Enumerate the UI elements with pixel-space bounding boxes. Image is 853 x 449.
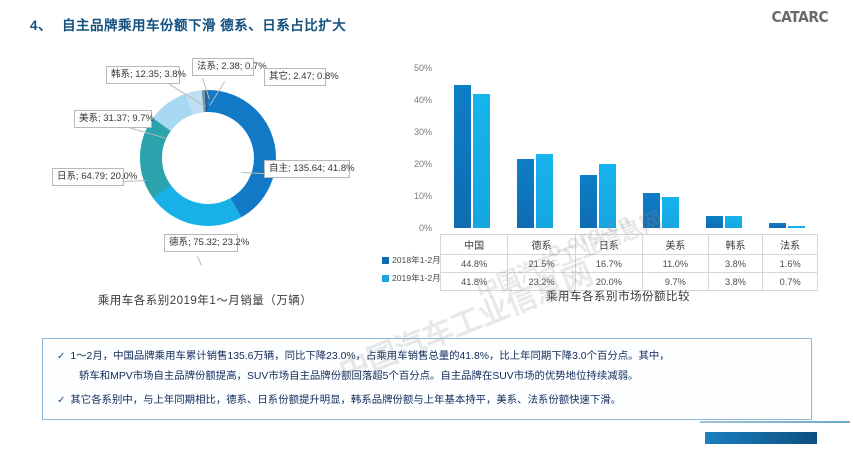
note-line-1-text: 1～2月，中国品牌乘用车累计销售135.6万辆，同比下降23.0%，占乘用车销售… [70,351,669,362]
slide-root: 4、 自主品牌乘用车份额下滑 德系、日系占比扩大 CATARC [0,0,853,449]
legend-label-2018: 2018年1-2月 [392,254,441,266]
note-line-3: ✓其它各系别中，与上年同期相比，德系、日系份额提升明显，韩系品牌份额与上年基本持… [57,393,621,408]
summary-note-box: ✓1～2月，中国品牌乘用车累计销售135.6万辆，同比下降23.0%，占乘用车销… [42,338,812,420]
bar-chart: 50% 40% 30% 20% 10% 0% [398,48,838,318]
y-tick-20: 20% [414,159,432,169]
table-row: 44.8% 21.5% 16.7% 11.0% 3.8% 1.6% [441,255,818,273]
donut-chart-caption: 乘用车各系别2019年1～月销量（万辆） [20,292,390,308]
bar-2019-dexi[interactable] [536,154,553,228]
bar-2019-meixi[interactable] [662,197,679,228]
legend-swatch-2018 [382,257,389,264]
bar-2019-zhongguo[interactable] [473,94,490,228]
donut-label-zizhu: 自主; 135.64; 41.8% [264,160,350,178]
bar-chart-caption: 乘用车各系别市场份额比较 [398,288,838,304]
cell-2018-hanxi: 3.8% [708,255,763,273]
y-axis: 50% 40% 30% 20% 10% 0% [398,68,436,228]
note-line-3-text: 其它各系别中，与上年同期相比，德系、日系份额提升明显，韩系品牌份额与上年基本持平… [70,395,621,406]
table-header-rixi: 日系 [575,235,642,255]
bar-2019-faxi[interactable] [788,226,805,228]
bar-plot-area [440,68,818,228]
donut-label-dexi: 德系; 75.32; 23.2% [164,234,238,252]
y-tick-30: 30% [414,127,432,137]
slide-header: 4、 自主品牌乘用车份额下滑 德系、日系占比扩大 CATARC [0,0,853,42]
logo-text: CATARC [772,8,829,26]
check-icon: ✓ [57,351,65,362]
cell-2018-meixi: 11.0% [643,255,709,273]
bar-group-zhongguo [440,85,503,228]
legend-item-2019: 2019年1-2月 [382,272,441,284]
bar-2018-zhongguo[interactable] [454,85,471,228]
check-icon: ✓ [57,395,65,406]
donut-label-qita: 其它; 2.47; 0.8% [264,68,326,86]
catarc-logo: CATARC [757,6,843,28]
donut-label-faxi: 法系; 2.38; 0.7% [192,58,254,76]
legend-swatch-2019 [382,275,389,282]
donut-label-hanxi: 韩系; 12.35; 3.8% [106,66,180,84]
table-header-hanxi: 韩系 [708,235,763,255]
bar-2019-rixi[interactable] [599,164,616,228]
bar-group-meixi [629,193,692,228]
donut-label-rixi: 日系; 64.79; 20.0% [52,168,124,186]
bar-2018-faxi[interactable] [769,223,786,228]
cell-2018-rixi: 16.7% [575,255,642,273]
leader-line-dexi [197,256,202,266]
y-tick-50: 50% [414,63,432,73]
y-tick-10: 10% [414,191,432,201]
donut-chart-svg [128,78,288,238]
bar-chart-data-table: 中国 德系 日系 美系 韩系 法系 44.8% 21.5% 16.7% 11.0… [440,234,818,291]
y-tick-0: 0% [419,223,432,233]
cell-2018-dexi: 21.5% [508,255,575,273]
footer-divider [700,421,850,423]
page-title: 自主品牌乘用车份额下滑 德系、日系占比扩大 [62,14,346,34]
legend-label-2019: 2019年1-2月 [392,272,441,284]
footer-accent-bar [705,432,817,444]
y-tick-40: 40% [414,95,432,105]
legend-item-2018: 2018年1-2月 [382,254,441,266]
bar-2018-hanxi[interactable] [706,216,723,228]
bar-group-dexi [503,154,566,228]
bar-2019-hanxi[interactable] [725,216,742,228]
bar-group-faxi [755,223,818,228]
cell-2018-zhongguo: 44.8% [441,255,508,273]
donut-label-meixi: 美系; 31.37; 9.7% [74,110,152,128]
table-header-dexi: 德系 [508,235,575,255]
page-title-number: 4、 [30,14,52,34]
note-line-1: ✓1～2月，中国品牌乘用车累计销售135.6万辆，同比下降23.0%，占乘用车销… [57,349,670,364]
cell-2018-faxi: 1.6% [763,255,818,273]
bar-2018-dexi[interactable] [517,159,534,228]
donut-chart: 韩系; 12.35; 3.8% 法系; 2.38; 0.7% 其它; 2.47;… [20,48,390,318]
note-line-2: 轿车和MPV市场自主品牌份额提高，SUV市场自主品牌份额回落超5个百分点。自主品… [79,369,638,384]
table-header-zhongguo: 中国 [441,235,508,255]
bar-2018-meixi[interactable] [643,193,660,228]
bar-2018-rixi[interactable] [580,175,597,228]
table-header-meixi: 美系 [643,235,709,255]
table-header-faxi: 法系 [763,235,818,255]
bar-group-rixi [566,164,629,228]
table-header-row: 中国 德系 日系 美系 韩系 法系 [441,235,818,255]
bar-group-hanxi [692,216,755,228]
